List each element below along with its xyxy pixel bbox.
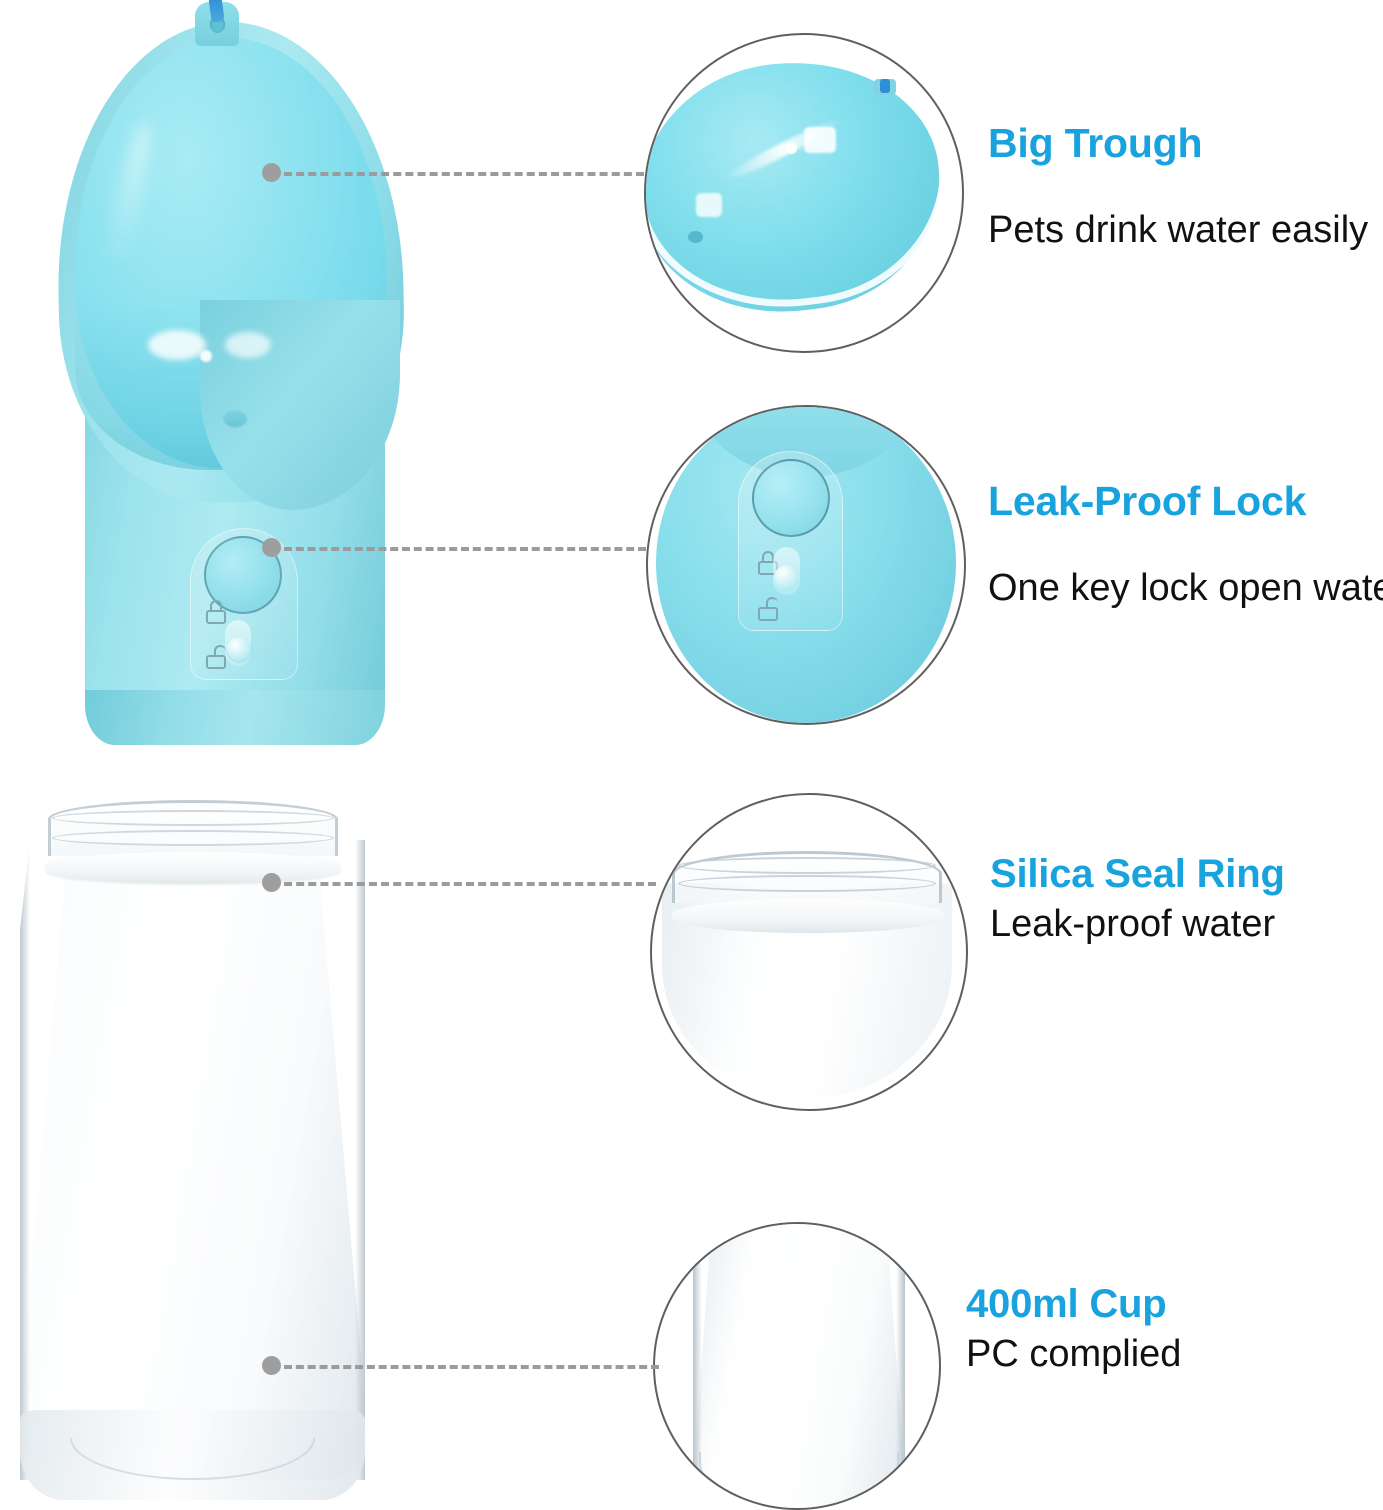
- clear-cup-neck: [48, 800, 338, 856]
- product-infographic: Big Trough Pets drink water easily Leak-…: [0, 0, 1383, 1500]
- callout-dot-silica-seal-ring: [262, 873, 281, 892]
- clear-water-cup: [0, 790, 400, 1500]
- clear-cup-thread-2: [52, 830, 334, 846]
- trough-highlight-1: [148, 330, 206, 360]
- detail-lock-open-icon: [758, 597, 778, 621]
- detail-circle-400ml-cup: [653, 1222, 941, 1510]
- feature-text-400ml-cup: 400ml Cup PC complied: [966, 1282, 1181, 1376]
- callout-line-leak-proof-lock: [284, 547, 646, 551]
- feature-heading-silica-seal-ring: Silica Seal Ring: [990, 852, 1285, 897]
- feature-heading-400ml-cup: 400ml Cup: [966, 1282, 1181, 1327]
- feature-heading-big-trough: Big Trough: [988, 120, 1368, 167]
- callout-dot-400ml-cup: [262, 1356, 281, 1375]
- clear-cup-edge-right: [355, 840, 365, 1480]
- water-valve-nub: [222, 410, 248, 430]
- feature-description-leak-proof-lock: One key lock open water: [988, 567, 1383, 610]
- detail-circle-big-trough: [644, 33, 964, 353]
- silica-seal-ring: [46, 852, 340, 884]
- lock-open-icon: [206, 645, 226, 669]
- hanging-strap: [208, 0, 224, 23]
- feature-text-big-trough: Big Trough Pets drink water easily: [988, 120, 1368, 252]
- clear-cup-wall: [20, 840, 365, 1480]
- trough-highlight-2: [225, 332, 271, 358]
- lock-closed-icon: [206, 600, 226, 624]
- callout-line-big-trough: [284, 172, 644, 176]
- lock-slider-knob[interactable]: [227, 637, 251, 661]
- callout-dot-leak-proof-lock: [262, 538, 281, 557]
- feature-text-leak-proof-lock: Leak-Proof Lock One key lock open water: [988, 478, 1383, 610]
- callout-dot-big-trough: [262, 163, 281, 182]
- feature-text-silica-seal-ring: Silica Seal Ring Leak-proof water: [990, 852, 1285, 946]
- feature-description-big-trough: Pets drink water easily: [988, 209, 1368, 252]
- bottle-body-base: [85, 690, 385, 745]
- detail-circle-leak-proof-lock: [646, 405, 966, 725]
- callout-line-silica-seal-ring: [284, 882, 656, 886]
- clear-cup-edge-left: [20, 840, 30, 1480]
- clear-cup-thread-1: [52, 810, 334, 826]
- feature-description-400ml-cup: PC complied: [966, 1333, 1181, 1376]
- feature-heading-leak-proof-lock: Leak-Proof Lock: [988, 478, 1383, 525]
- trough-highlight-3: [200, 350, 212, 362]
- feature-description-silica-seal-ring: Leak-proof water: [990, 903, 1285, 946]
- pet-water-bottle-teal-unit: [30, 0, 390, 745]
- callout-line-400ml-cup: [284, 1365, 659, 1369]
- detail-circle-silica-seal-ring: [650, 793, 968, 1111]
